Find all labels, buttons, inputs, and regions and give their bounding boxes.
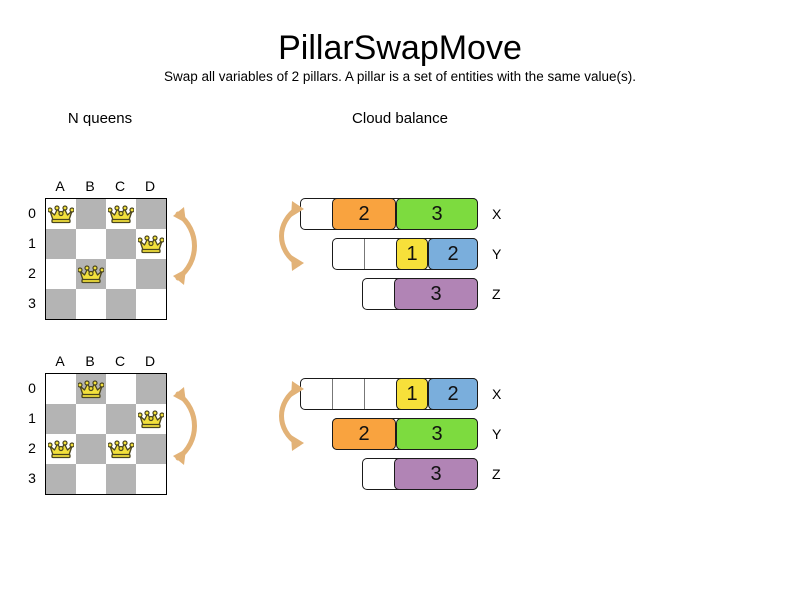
swap-arrow-board-after (166, 380, 210, 472)
cloud-segment-y-1[interactable]: 3 (396, 418, 478, 450)
cloud-row-x: 23 (300, 198, 478, 230)
board-column-label-d: D (135, 352, 165, 370)
cloud-cell-divider (364, 379, 365, 409)
board-column-label-b: B (75, 177, 105, 195)
cloud-segment-x-2[interactable]: 3 (396, 198, 478, 230)
board-column-label-c: C (105, 177, 135, 195)
cloud-row-label-y: Y (492, 418, 512, 450)
cloud-segment-y-3[interactable]: 2 (428, 238, 478, 270)
board-column-label-a: A (45, 177, 75, 195)
cloud-row-label-y: Y (492, 238, 512, 270)
cloud-row-x: 12 (300, 378, 478, 410)
swap-arrow-cloud-before (268, 196, 312, 276)
cloud-row-y: 23 (332, 418, 478, 450)
cloud-row-label-x: X (492, 198, 512, 230)
board-column-label-a: A (45, 352, 75, 370)
board-column-label-d: D (135, 177, 165, 195)
section-heading-cloud-balance: Cloud balance (310, 110, 490, 127)
cloud-segment-x-3[interactable]: 1 (396, 378, 428, 410)
swap-arrow-cloud-after (268, 376, 312, 456)
cloud-row-z: 3 (362, 458, 478, 490)
board-column-label-c: C (105, 352, 135, 370)
cloud-row-label-x: X (492, 378, 512, 410)
cloud-row-label-z: Z (492, 458, 512, 490)
cloud-segment-z-1[interactable]: 3 (394, 278, 478, 310)
swap-arrow-board-before (166, 200, 210, 292)
cloud-row-y: 12 (332, 238, 478, 270)
board-column-label-b: B (75, 352, 105, 370)
page-title: PillarSwapMove (0, 28, 800, 68)
page-subtitle: Swap all variables of 2 pillars. A pilla… (0, 69, 800, 85)
page-root: PillarSwapMove Swap all variables of 2 p… (0, 0, 800, 600)
cloud-segment-y-0[interactable]: 2 (332, 418, 396, 450)
cloud-segment-y-2[interactable]: 1 (396, 238, 428, 270)
section-heading-n-queens: N queens (20, 110, 180, 127)
cloud-cell-divider (332, 379, 333, 409)
cloud-row-label-z: Z (492, 278, 512, 310)
cloud-segment-x-1[interactable]: 2 (332, 198, 396, 230)
cloud-row-z: 3 (362, 278, 478, 310)
cloud-segment-x-4[interactable]: 2 (428, 378, 478, 410)
cloud-segment-z-1[interactable]: 3 (394, 458, 478, 490)
cloud-cell-divider (364, 239, 365, 269)
